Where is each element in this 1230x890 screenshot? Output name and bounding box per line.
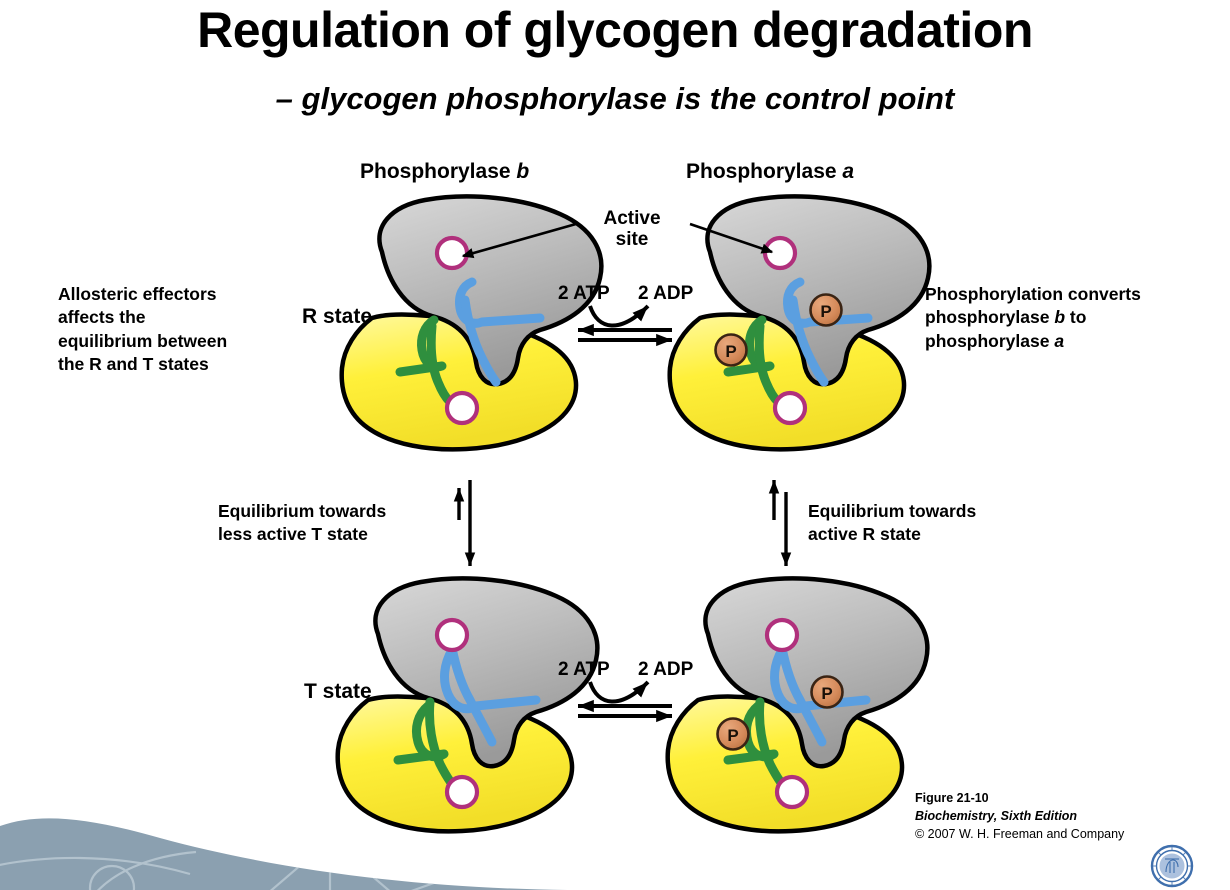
reaction-arrow-top (578, 306, 672, 340)
equilibrium-note-left: Equilibrium towards less active T state (218, 500, 386, 547)
column-header-phosphorylase-b: Phosphorylase b (360, 160, 529, 184)
phosphate-badge: P (812, 677, 843, 708)
adp-label-top: 2 ADP (638, 283, 693, 305)
active-site-ring (437, 238, 467, 268)
note-line: equilibrium between (58, 330, 308, 353)
active-site-label: Active site (577, 208, 687, 251)
svg-text:P: P (725, 342, 736, 361)
phosphorylation-note: Phosphorylation converts phosphorylase b… (925, 283, 1205, 353)
note-line: Allosteric effectors (58, 283, 308, 306)
page-subtitle: – glycogen phosphorylase is the control … (0, 82, 1230, 116)
allosteric-effectors-note: Allosteric effectors affects the equilib… (58, 283, 308, 377)
note-line: Phosphorylation converts (925, 283, 1205, 306)
note-line: active R state (808, 523, 976, 546)
active-site-ring (765, 238, 795, 268)
equilibrium-arrow-left (459, 480, 470, 566)
atp-label-top: 2 ATP (558, 283, 610, 305)
note-line: Equilibrium towards (808, 500, 976, 523)
phosphate-badge: P (716, 335, 747, 366)
university-seal-logo (1152, 846, 1192, 886)
active-site-ring (767, 620, 797, 650)
figure-number: Figure 21-10 (915, 790, 1124, 808)
active-site-label-line2: site (577, 229, 687, 250)
svg-text:P: P (727, 726, 738, 745)
figure-credit: Figure 21-10 Biochemistry, Sixth Edition… (915, 790, 1124, 843)
svg-text:P: P (820, 302, 831, 321)
phosphate-badge: P (811, 295, 842, 326)
note-line: phosphorylase b to (925, 306, 1205, 329)
equilibrium-note-right: Equilibrium towards active R state (808, 500, 976, 547)
t-state-label: T state (304, 680, 372, 704)
atp-label-bottom: 2 ATP (558, 659, 610, 681)
phosphate-badge: P (718, 719, 749, 750)
note-line: Equilibrium towards (218, 500, 386, 523)
note-line: phosphorylase a (925, 330, 1205, 353)
active-site-ring (437, 620, 467, 650)
phosphorylase-diagram: P P (0, 0, 1230, 890)
molecule-phosphorylase-a-t-state: P P (668, 578, 928, 831)
molecule-phosphorylase-b-t-state (338, 578, 598, 831)
slide-canvas: Regulation of glycogen degradation – gly… (0, 0, 1230, 890)
footer-banner-shape (0, 818, 620, 890)
equilibrium-arrow-right (774, 480, 786, 566)
active-site-ring (777, 777, 807, 807)
note-line: affects the (58, 306, 308, 329)
figure-source: Biochemistry, Sixth Edition (915, 808, 1124, 826)
r-state-label: R state (302, 305, 372, 329)
active-site-ring (775, 393, 805, 423)
adp-label-bottom: 2 ADP (638, 659, 693, 681)
page-title: Regulation of glycogen degradation (0, 4, 1230, 57)
active-site-ring (447, 393, 477, 423)
column-header-phosphorylase-a: Phosphorylase a (686, 160, 854, 184)
footer-decoration (0, 0, 1230, 890)
molecule-phosphorylase-a-r-state: P P (670, 196, 930, 449)
reaction-arrow-bottom (578, 682, 672, 716)
figure-copyright: © 2007 W. H. Freeman and Company (915, 826, 1124, 844)
molecule-phosphorylase-b-r-state (342, 196, 602, 449)
active-site-label-line1: Active (577, 208, 687, 229)
note-line: the R and T states (58, 353, 308, 376)
active-site-ring (447, 777, 477, 807)
svg-text:P: P (821, 684, 832, 703)
note-line: less active T state (218, 523, 386, 546)
